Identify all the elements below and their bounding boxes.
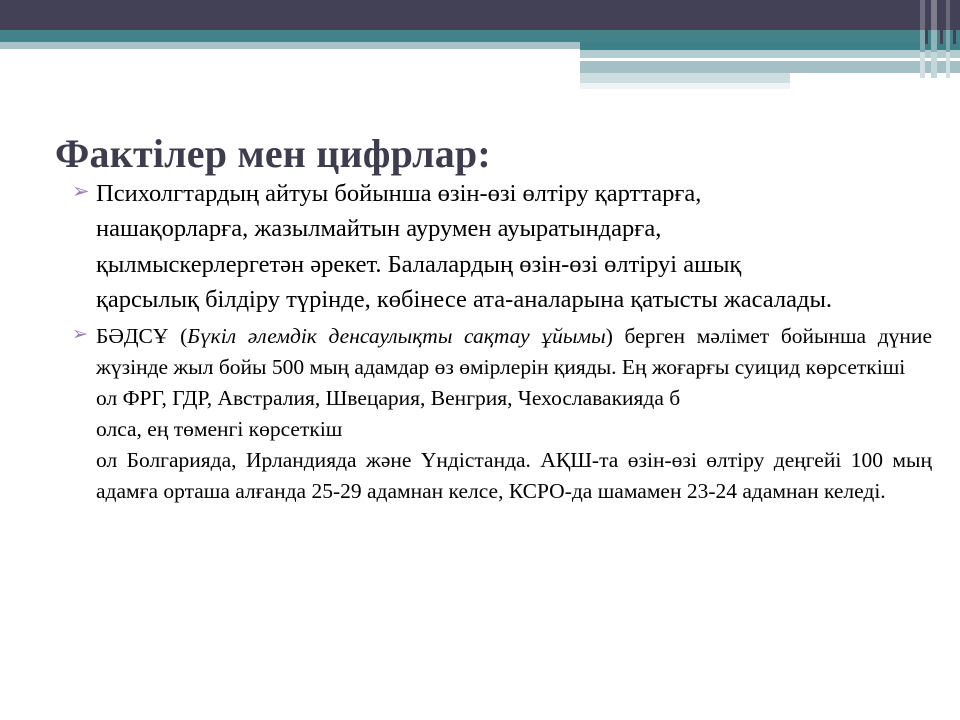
header-band-teal [0, 30, 960, 42]
header-vstripe-2 [925, 0, 928, 44]
slide-title: Фактілер мен цифрлар: [55, 131, 905, 177]
bullet-2-line-c: ол Болгарияда, Ирландияда және Үндістанд… [96, 445, 932, 507]
slide-header-decoration [0, 0, 960, 92]
header-band-teal-right [580, 42, 960, 50]
slide-body: ➢ Психолгтардың айтуы бойынша өзін-өзі ө… [72, 176, 932, 507]
bullet-item-2: ➢ БӘДСҰ (Бүкіл әлемдік денсаулықты сақта… [72, 321, 932, 507]
header-vstripe-pale-2 [931, 52, 937, 78]
header-band-light-left [0, 42, 580, 49]
header-band-lower [580, 73, 790, 83]
bullet-item-1: ➢ Психолгтардың айтуы бойынша өзін-өзі ө… [72, 176, 932, 317]
arrow-bullet-icon: ➢ [72, 176, 94, 206]
header-vstripe-pale-3 [946, 52, 950, 78]
bullet-2-line-b: олса, ең төменгі көрсеткіш [96, 414, 932, 445]
header-band-midblue [580, 61, 960, 73]
header-band-lower-faint [580, 83, 790, 89]
bullet-2-text: БӘДСҰ (Бүкіл әлемдік денсаулықты сақтау … [96, 321, 932, 507]
arrow-bullet-icon: ➢ [72, 321, 94, 348]
header-vstripe-6 [953, 0, 956, 44]
header-vstripe-teal-3 [946, 30, 950, 52]
header-band-dark [0, 0, 960, 30]
bullet-1-text: Психолгтардың айтуы бойынша өзін-өзі өлт… [96, 176, 932, 317]
bullet-2-lead: БӘДСҰ ( [96, 324, 187, 348]
header-vstripe-teal-2 [931, 30, 937, 52]
bullet-2-italic-org-name: Бүкіл әлемдік денсаулықты сақтау ұйымы [187, 324, 605, 348]
bullet-2-line-a: ол ФРГ, ГДР, Австралия, Швецария, Венгри… [96, 383, 932, 414]
header-vstripe-pale-1 [920, 52, 925, 78]
header-band-pale-right [580, 50, 960, 58]
header-vstripe-4 [940, 0, 943, 44]
header-vstripe-teal-1 [920, 30, 925, 52]
